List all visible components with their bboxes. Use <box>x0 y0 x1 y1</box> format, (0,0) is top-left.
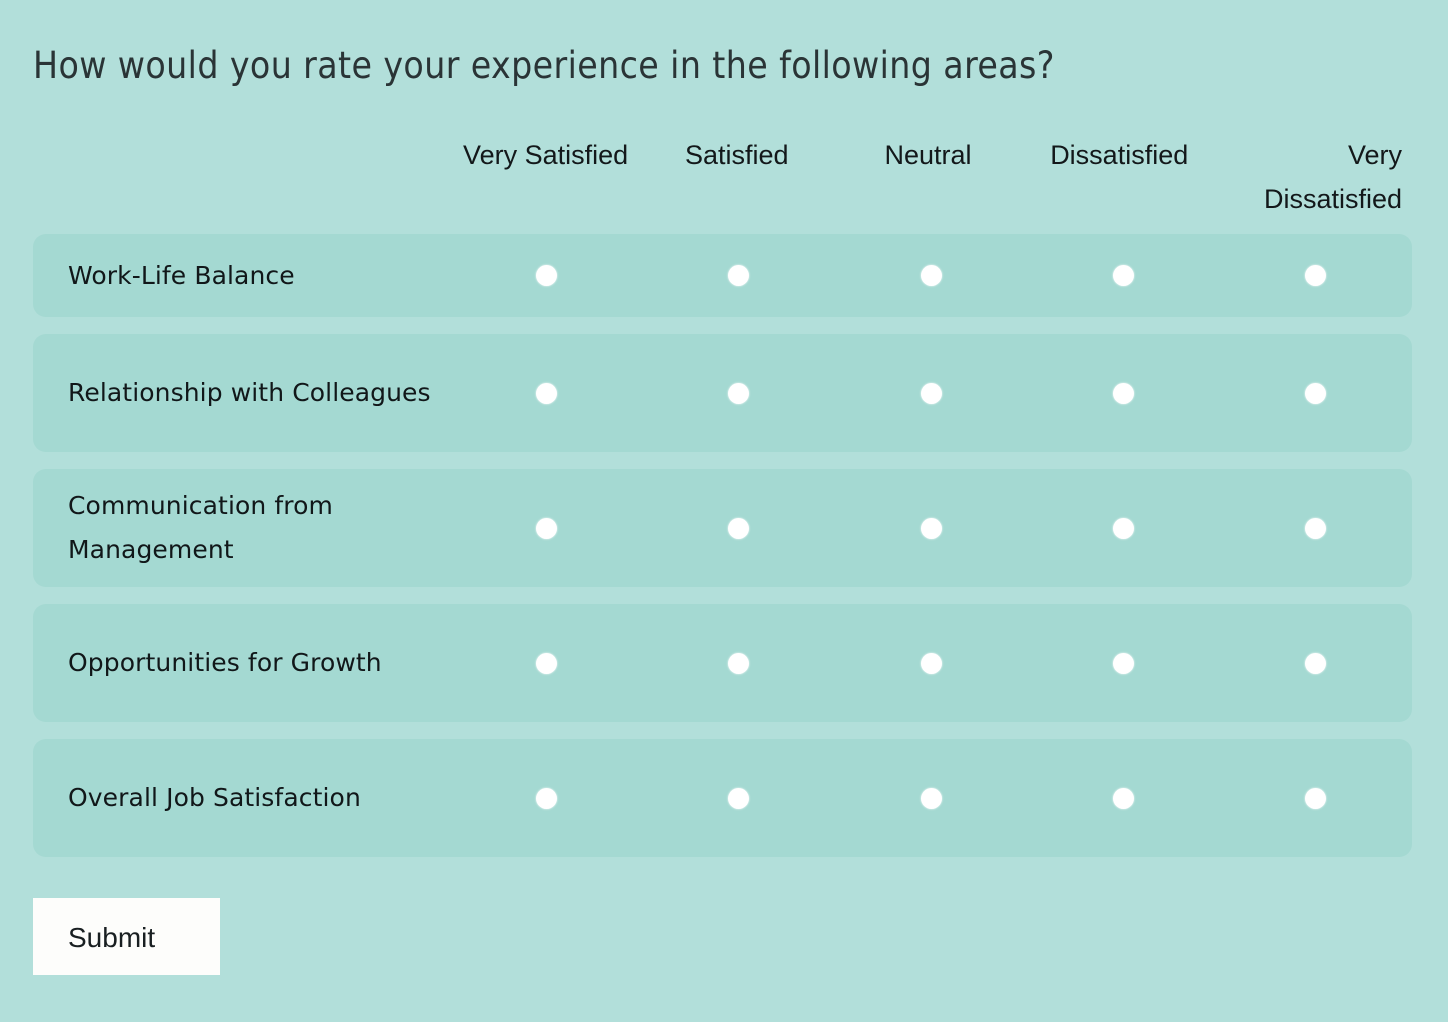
option-cell[interactable] <box>1027 604 1219 722</box>
column-header-very-satisfied: Very Satisfied <box>450 133 641 221</box>
option-cell[interactable] <box>642 739 834 857</box>
radio-work-life-balance-neutral[interactable] <box>921 265 942 286</box>
column-header-satisfied: Satisfied <box>641 133 832 221</box>
radio-work-life-balance-satisfied[interactable] <box>728 265 749 286</box>
radio-communication-from-management-dissatisfied[interactable] <box>1113 518 1134 539</box>
radio-opportunities-for-growth-very-satisfied[interactable] <box>536 653 557 674</box>
row-label-opportunities-for-growth: Opportunities for Growth <box>33 641 450 685</box>
option-cell[interactable] <box>1027 334 1219 452</box>
radio-communication-from-management-very-dissatisfied[interactable] <box>1305 518 1326 539</box>
radio-relationship-with-colleagues-satisfied[interactable] <box>728 383 749 404</box>
rating-matrix-survey: How would you rate your experience in th… <box>0 0 1448 1022</box>
radio-overall-job-satisfaction-neutral[interactable] <box>921 788 942 809</box>
column-header-neutral: Neutral <box>832 133 1023 221</box>
radio-relationship-with-colleagues-dissatisfied[interactable] <box>1113 383 1134 404</box>
option-cell[interactable] <box>450 334 642 452</box>
radio-work-life-balance-very-satisfied[interactable] <box>536 265 557 286</box>
row-label-communication-from-management: Communication from Management <box>33 484 450 572</box>
matrix-rows: Work-Life Balance Relationship with Coll… <box>33 234 1412 874</box>
radio-work-life-balance-dissatisfied[interactable] <box>1113 265 1134 286</box>
table-row: Work-Life Balance <box>33 234 1412 317</box>
radio-relationship-with-colleagues-very-satisfied[interactable] <box>536 383 557 404</box>
option-cell[interactable] <box>835 334 1027 452</box>
option-cell[interactable] <box>642 469 834 587</box>
column-header-very-dissatisfied: Very Dissatisfied <box>1215 133 1412 221</box>
radio-opportunities-for-growth-neutral[interactable] <box>921 653 942 674</box>
row-options <box>450 234 1412 317</box>
row-options <box>450 739 1412 857</box>
row-label-relationship-with-colleagues: Relationship with Colleagues <box>33 371 450 415</box>
radio-overall-job-satisfaction-very-dissatisfied[interactable] <box>1305 788 1326 809</box>
option-cell[interactable] <box>835 469 1027 587</box>
row-options <box>450 334 1412 452</box>
submit-button[interactable]: Submit <box>33 898 220 975</box>
table-row: Relationship with Colleagues <box>33 334 1412 452</box>
header-columns: Very Satisfied Satisfied Neutral Dissati… <box>450 133 1412 221</box>
row-options <box>450 469 1412 587</box>
row-options <box>450 604 1412 722</box>
option-cell[interactable] <box>450 604 642 722</box>
table-row: Communication from Management <box>33 469 1412 587</box>
option-cell[interactable] <box>835 604 1027 722</box>
row-label-overall-job-satisfaction: Overall Job Satisfaction <box>33 776 450 820</box>
option-cell[interactable] <box>1027 469 1219 587</box>
page-title: How would you rate your experience in th… <box>33 44 1413 87</box>
option-cell[interactable] <box>450 469 642 587</box>
radio-opportunities-for-growth-satisfied[interactable] <box>728 653 749 674</box>
table-row: Opportunities for Growth <box>33 604 1412 722</box>
radio-overall-job-satisfaction-very-satisfied[interactable] <box>536 788 557 809</box>
row-label-work-life-balance: Work-Life Balance <box>33 254 450 298</box>
matrix-column-headers: Very Satisfied Satisfied Neutral Dissati… <box>33 133 1412 223</box>
radio-relationship-with-colleagues-very-dissatisfied[interactable] <box>1305 383 1326 404</box>
option-cell[interactable] <box>835 739 1027 857</box>
option-cell[interactable] <box>450 234 642 317</box>
radio-opportunities-for-growth-dissatisfied[interactable] <box>1113 653 1134 674</box>
option-cell[interactable] <box>1220 469 1412 587</box>
radio-opportunities-for-growth-very-dissatisfied[interactable] <box>1305 653 1326 674</box>
option-cell[interactable] <box>1220 739 1412 857</box>
option-cell[interactable] <box>1220 334 1412 452</box>
radio-communication-from-management-satisfied[interactable] <box>728 518 749 539</box>
radio-overall-job-satisfaction-satisfied[interactable] <box>728 788 749 809</box>
option-cell[interactable] <box>642 334 834 452</box>
radio-communication-from-management-very-satisfied[interactable] <box>536 518 557 539</box>
radio-overall-job-satisfaction-dissatisfied[interactable] <box>1113 788 1134 809</box>
table-row: Overall Job Satisfaction <box>33 739 1412 857</box>
option-cell[interactable] <box>1220 234 1412 317</box>
radio-work-life-balance-very-dissatisfied[interactable] <box>1305 265 1326 286</box>
option-cell[interactable] <box>1220 604 1412 722</box>
radio-communication-from-management-neutral[interactable] <box>921 518 942 539</box>
option-cell[interactable] <box>835 234 1027 317</box>
option-cell[interactable] <box>1027 234 1219 317</box>
option-cell[interactable] <box>1027 739 1219 857</box>
column-header-dissatisfied: Dissatisfied <box>1024 133 1215 221</box>
option-cell[interactable] <box>642 234 834 317</box>
option-cell[interactable] <box>642 604 834 722</box>
option-cell[interactable] <box>450 739 642 857</box>
radio-relationship-with-colleagues-neutral[interactable] <box>921 383 942 404</box>
